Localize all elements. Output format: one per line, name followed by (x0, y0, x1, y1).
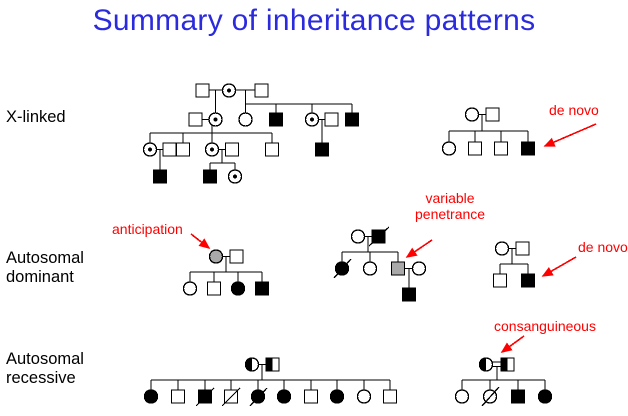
symbol-female-unaffected (456, 390, 469, 403)
arrow-consanguineous (502, 336, 524, 352)
arrow-variable-penetrance (407, 240, 432, 257)
ar-sibship-symbols (145, 358, 397, 406)
symbol-male-unaffected (196, 84, 209, 97)
carrier-dot (210, 148, 214, 152)
carrier-dot (233, 175, 237, 179)
ar-consanguineous-symbols (456, 358, 552, 406)
symbol-male-unaffected (486, 108, 499, 121)
symbol-male-unaffected (495, 142, 508, 155)
symbol-male-unaffected (516, 242, 529, 255)
symbol-female-affected (331, 390, 344, 403)
xlinked-gen3-symbols (144, 143, 329, 156)
ad-anticipation-links (190, 257, 262, 283)
carrier-dot (227, 89, 231, 93)
half-fill-left (501, 358, 508, 371)
symbol-male-unaffected (226, 143, 239, 156)
symbol-male-unaffected (469, 142, 482, 155)
symbol-female-unaffected (466, 108, 479, 121)
carrier-dot (310, 118, 314, 122)
symbol-male-unaffected (266, 143, 279, 156)
half-fill-left (266, 358, 273, 371)
symbol-female-unaffected (352, 230, 365, 243)
symbol-female-affected (232, 282, 245, 295)
symbol-male-affected (256, 282, 269, 295)
xlinked-gen2-links (150, 120, 325, 144)
arrow-de-novo-ad (543, 257, 576, 276)
symbol-male-affected (403, 288, 416, 301)
pedigree-diagram-canvas (0, 0, 628, 416)
symbol-male-unaffected (325, 113, 338, 126)
symbol-male-unaffected (163, 143, 176, 156)
symbol-male-affected (270, 113, 283, 126)
symbol-male-unaffected (305, 390, 318, 403)
symbol-male-affected (154, 170, 167, 183)
symbol-female-unaffected (358, 390, 371, 403)
carrier-dot (148, 148, 152, 152)
symbol-male-unaffected (384, 390, 397, 403)
xlinked-gen1-symbols (196, 84, 268, 97)
symbol-male-unaffected (177, 143, 190, 156)
symbol-female-affected (539, 390, 552, 403)
symbol-male-affected (204, 170, 217, 183)
symbol-male-unaffected (208, 282, 221, 295)
symbol-male-affected (522, 274, 535, 287)
symbol-male-unaffected (230, 250, 243, 263)
symbol-male-unaffected (189, 113, 202, 126)
symbol-female-gray (210, 250, 223, 263)
symbol-male-affected (522, 142, 535, 155)
symbol-male-unaffected (172, 390, 185, 403)
symbol-male-affected (346, 113, 359, 126)
symbol-female-unaffected (364, 262, 377, 275)
arrow-de-novo-x (545, 124, 596, 146)
symbol-male-gray (392, 262, 405, 275)
symbol-male-affected (316, 143, 329, 156)
pedigree-summary-page: Summary of inheritance patterns X-linked… (0, 0, 628, 416)
symbol-female-unaffected (443, 142, 456, 155)
carrier-dot (214, 118, 218, 122)
symbol-female-unaffected (413, 262, 426, 275)
symbol-female-affected (145, 390, 158, 403)
ad-varpen-symbols (334, 227, 426, 301)
symbol-female-affected (278, 390, 291, 403)
symbol-male-unaffected (255, 84, 268, 97)
xlinked-gen4-symbols (154, 170, 242, 183)
arrow-anticipation (191, 234, 209, 248)
symbol-male-unaffected (494, 274, 507, 287)
symbol-female-unaffected (496, 242, 509, 255)
symbol-male-affected (512, 390, 525, 403)
symbol-female-unaffected (184, 282, 197, 295)
symbol-female-unaffected (239, 113, 252, 126)
xlinked-gen2-symbols (189, 113, 359, 126)
